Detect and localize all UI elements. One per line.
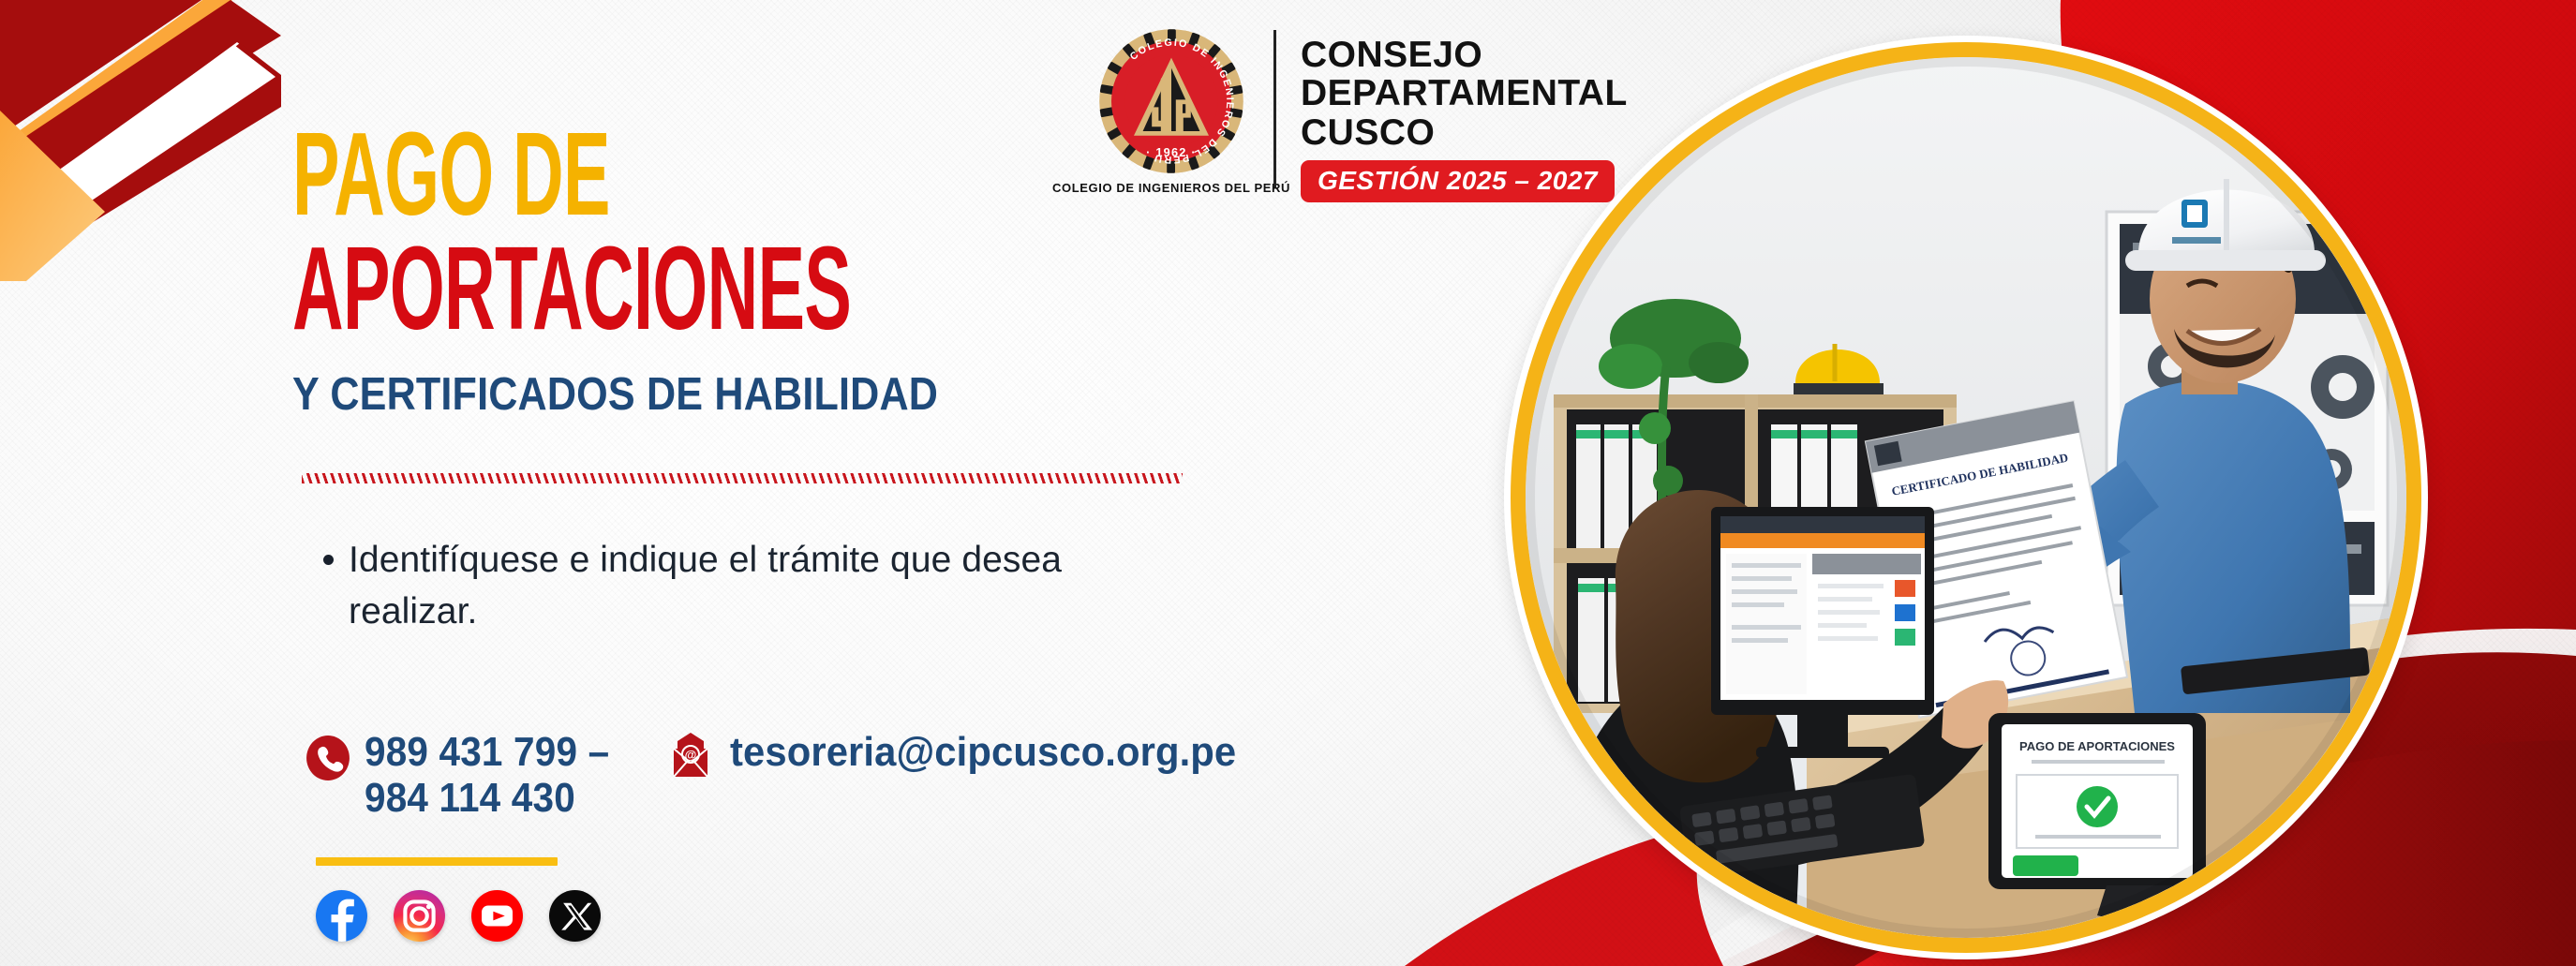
svg-text:@: @ [685, 748, 697, 762]
logo-text-column: CONSEJO DEPARTAMENTAL CUSCO GESTIÓN 2025… [1301, 26, 1628, 202]
list-item: Identifíquese e indique el trámite que d… [323, 534, 1101, 638]
phone-line-2: 984 114 430 [365, 775, 609, 821]
phone-line-1: 989 431 799 – [365, 729, 609, 775]
contact-row: 989 431 799 – 984 114 430 @ tesoreria@ci… [305, 729, 1263, 822]
email-group[interactable]: @ tesoreria@cipcusco.org.pe [666, 729, 1263, 781]
phone-numbers: 989 431 799 – 984 114 430 [365, 729, 609, 822]
phone-group[interactable]: 989 431 799 – 984 114 430 [305, 729, 631, 822]
social-links [316, 890, 601, 942]
logo-line-departamental: DEPARTAMENTAL [1301, 74, 1628, 112]
bullet-text: Identifíquese e indique el trámite que d… [349, 534, 1101, 638]
dashed-divider [302, 473, 1183, 483]
email-address: tesoreria@cipcusco.org.pe [730, 729, 1236, 775]
office-counter-illustration: CERTIFICADO DE HABILIDAD [1526, 57, 2406, 938]
left-corner-decor [0, 0, 281, 281]
instagram-icon[interactable] [394, 890, 445, 942]
facebook-icon[interactable] [316, 890, 367, 942]
bullet-dot-icon [323, 555, 334, 565]
banner-root: CERTIFICADO DE HABILIDAD [0, 0, 2576, 966]
gestion-badge: GESTIÓN 2025 – 2027 [1301, 160, 1615, 202]
yellow-divider [316, 857, 558, 866]
youtube-icon[interactable] [471, 890, 523, 942]
svg-text:PAGO DE APORTACIONES: PAGO DE APORTACIONES [2019, 739, 2175, 753]
headline-line-1: PAGO DE [292, 124, 851, 225]
logo-line-cusco: CUSCO [1301, 113, 1628, 152]
phone-icon [305, 735, 351, 781]
logo-divider [1273, 30, 1276, 187]
logo-line-consejo: CONSEJO [1301, 36, 1628, 74]
headline-subtitle: Y CERTIFICADOS DE HABILIDAD [292, 368, 1111, 421]
headline-group: PAGO DE APORTACIONES Y CERTIFICADOS DE H… [292, 124, 1224, 421]
x-twitter-icon[interactable] [549, 890, 601, 942]
bullet-list: Identifíquese e indique el trámite que d… [323, 534, 1101, 638]
photo-circle: CERTIFICADO DE HABILIDAD [1511, 42, 2421, 953]
headline-line-2: APORTACIONES [292, 238, 851, 339]
envelope-icon: @ [666, 731, 715, 781]
photo-inner: CERTIFICADO DE HABILIDAD [1526, 57, 2406, 938]
